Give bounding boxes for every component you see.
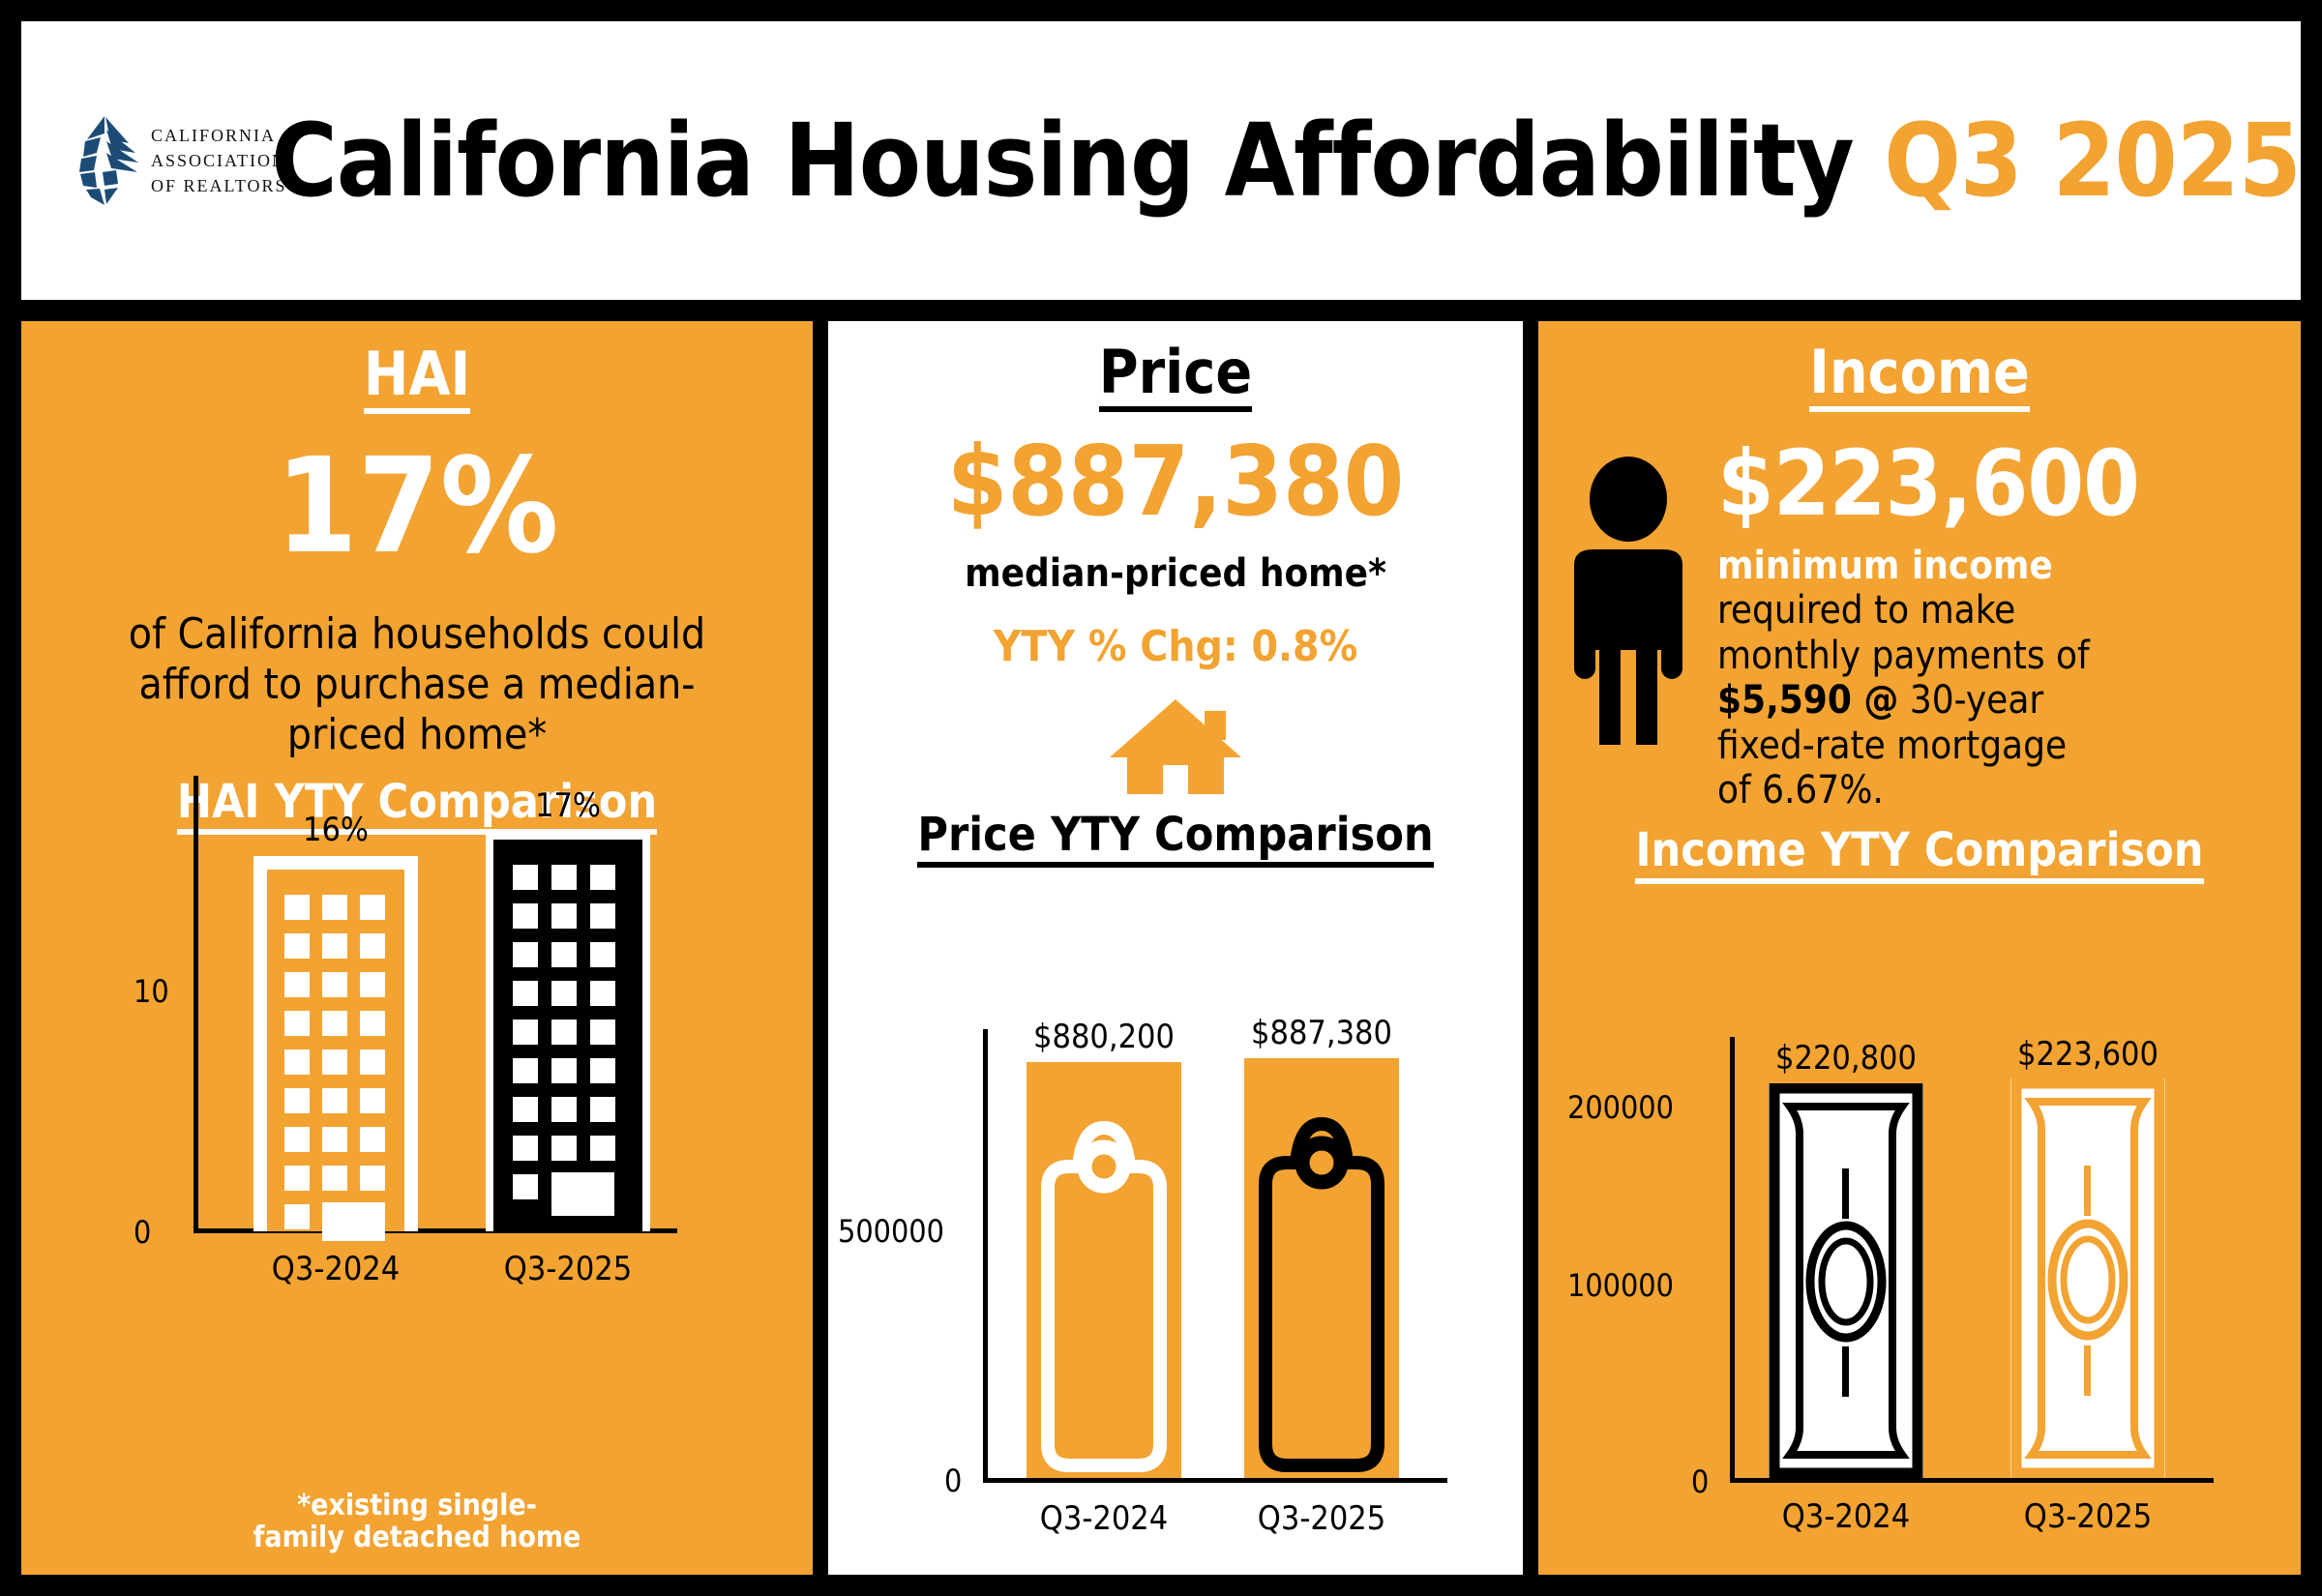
- income-ytick-0: 0: [1691, 1463, 1709, 1500]
- price-value-label-2025: $887,380: [1235, 1014, 1409, 1052]
- hai-footnote: *existing single- family detached home: [21, 1490, 813, 1553]
- hai-ytick-10: 10: [134, 973, 169, 1010]
- page-title-main: California Housing Affordability: [271, 102, 1884, 220]
- price-cat-label-2024: Q3-2024: [1017, 1499, 1191, 1538]
- income-desc-line-4-rest: 30-year: [1898, 678, 2043, 723]
- income-bar-2025: [2010, 1079, 2165, 1478]
- hai-bar-2024: [253, 856, 418, 1231]
- hai-description: of California households could afford to…: [117, 609, 717, 760]
- panel-income: Income $223,600 minimum income r: [1538, 321, 2301, 1575]
- income-desc-line-4: $5,590 @ 30-year: [1717, 678, 2279, 723]
- income-big-value: $223,600: [1717, 439, 2279, 530]
- price-chart-title: Price YTY Comparison: [917, 811, 1433, 868]
- income-ytick-200000: 200000: [1567, 1089, 1674, 1126]
- income-cat-label-2025: Q3-2025: [2001, 1497, 2175, 1536]
- price-title: Price: [1099, 342, 1252, 412]
- header-bar: CALIFORNIA ASSOCIATION OF REALTORS' Cali…: [21, 21, 2301, 300]
- price-y-axis: [983, 1029, 988, 1482]
- hai-footnote-line-1: *existing single-: [21, 1490, 813, 1522]
- price-big-value: $887,380: [828, 433, 1523, 530]
- price-ytick-0: 0: [944, 1463, 962, 1499]
- hai-big-value: 17%: [21, 441, 813, 573]
- price-bar-2025: [1244, 1058, 1399, 1478]
- hai-cat-label-2025: Q3-2025: [481, 1250, 655, 1288]
- income-desc-line-1: minimum income: [1717, 544, 2279, 588]
- income-desc-line-3: monthly payments of: [1717, 634, 2279, 678]
- income-title: Income: [1809, 342, 2030, 412]
- price-x-axis: [983, 1478, 1447, 1483]
- income-cat-label-2024: Q3-2024: [1759, 1497, 1933, 1536]
- panel-price: Price $887,380 median-priced home* YTY %…: [828, 321, 1523, 1575]
- price-tag-icon-2025: [1244, 1058, 1399, 1478]
- chart-price-yty: 500000 0 $880,200 Q3-2024: [828, 998, 1523, 1540]
- income-value-label-2024: $220,800: [1759, 1039, 1933, 1078]
- income-desc-line-2: required to make: [1717, 588, 2279, 633]
- hai-cat-label-2024: Q3-2024: [249, 1250, 423, 1288]
- panel-hai: HAI 17% of California households could a…: [21, 321, 813, 1575]
- page-title-quarter: Q3 2025: [1884, 102, 2301, 220]
- hai-bar-2025: [486, 832, 650, 1231]
- income-ytick-100000: 100000: [1567, 1267, 1674, 1304]
- income-y-axis: [1730, 1037, 1735, 1482]
- hai-ytick-0: 0: [134, 1214, 151, 1251]
- income-description: minimum income required to make monthly …: [1717, 544, 2279, 813]
- income-value-label-2025: $223,600: [2001, 1035, 2175, 1074]
- banknote-icon-2024: [1769, 1083, 1923, 1478]
- house-icon: [1108, 697, 1243, 794]
- income-x-axis: [1730, 1478, 2214, 1483]
- hai-value-label-2025: 17%: [486, 786, 650, 825]
- price-tag-icon-2024: [1027, 1062, 1181, 1478]
- hai-footnote-line-2: family detached home: [21, 1522, 813, 1553]
- hai-value-label-2024: 16%: [253, 811, 418, 849]
- page-title: California Housing Affordability Q3 2025: [271, 102, 2301, 220]
- infographic-root: CALIFORNIA ASSOCIATION OF REALTORS' Cali…: [0, 0, 2322, 1596]
- price-ytick-500000: 500000: [838, 1213, 944, 1250]
- price-yty-change: YTY % Chg: 0.8%: [828, 622, 1523, 672]
- panels-row: HAI 17% of California households could a…: [21, 321, 2301, 1575]
- hai-title: HAI: [364, 344, 471, 414]
- price-value-label-2024: $880,200: [1017, 1018, 1191, 1056]
- car-logo-mark: [68, 114, 141, 207]
- income-desc-line-5: fixed-rate mortgage: [1717, 724, 2279, 768]
- price-bar-2024: [1027, 1062, 1181, 1478]
- price-cat-label-2025: Q3-2025: [1235, 1499, 1409, 1538]
- chart-income-yty: 200000 100000 0 $220,800 Q3-2024: [1538, 996, 2301, 1538]
- banknote-icon-2025: [2010, 1079, 2165, 1478]
- income-bar-2024: [1769, 1083, 1923, 1478]
- income-chart-title: Income YTY Comparison: [1635, 826, 2203, 883]
- hai-y-axis: [193, 776, 198, 1232]
- person-icon: [1551, 457, 1706, 747]
- chart-hai-yty: 0 10: [21, 747, 813, 1298]
- income-desc-line-6: of 6.67%.: [1717, 768, 2279, 813]
- price-subtitle: median-priced home*: [828, 551, 1523, 597]
- income-payment-amount: $5,590 @: [1717, 678, 1898, 723]
